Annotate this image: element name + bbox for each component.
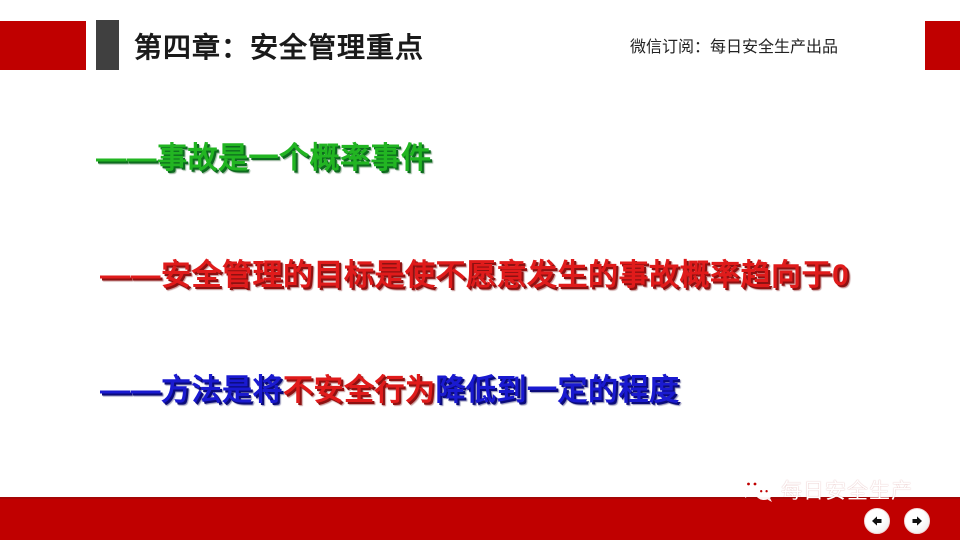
page-title: 第四章：安全管理重点: [134, 26, 424, 66]
header-red-block-right: [925, 21, 960, 70]
prev-slide-button[interactable]: [864, 508, 890, 534]
bullet-3-segment-highlight: 不安全行为: [283, 374, 436, 407]
bullet-3-segment-tail: 降低到一定的程度: [436, 374, 680, 407]
header-gray-block: [96, 20, 119, 70]
bullet-line-2: ——安全管理的目标是使不愿意发生的事故概率趋向于0: [100, 250, 849, 294]
arrow-left-icon: [870, 514, 884, 528]
footer-brand: 每日安全生产: [740, 472, 913, 508]
arrow-right-icon: [910, 514, 924, 528]
next-slide-button[interactable]: [904, 508, 930, 534]
wechat-icon: [740, 476, 774, 504]
subscribe-note: 微信订阅：每日安全生产出品: [630, 33, 838, 57]
footer-brand-label: 每日安全生产: [781, 475, 913, 505]
bullet-line-1: ——事故是一个概率事件: [96, 133, 432, 177]
header-red-block-left: [0, 21, 86, 70]
bullet-3-segment-lead: ——方法是将: [100, 374, 283, 407]
nav-buttons: [864, 508, 930, 534]
slide-canvas: 第四章：安全管理重点 微信订阅：每日安全生产出品 ——事故是一个概率事件 ——安…: [0, 0, 960, 540]
bullet-line-3: ——方法是将不安全行为降低到一定的程度: [100, 365, 680, 409]
header-bar: 第四章：安全管理重点 微信订阅：每日安全生产出品: [0, 0, 960, 88]
